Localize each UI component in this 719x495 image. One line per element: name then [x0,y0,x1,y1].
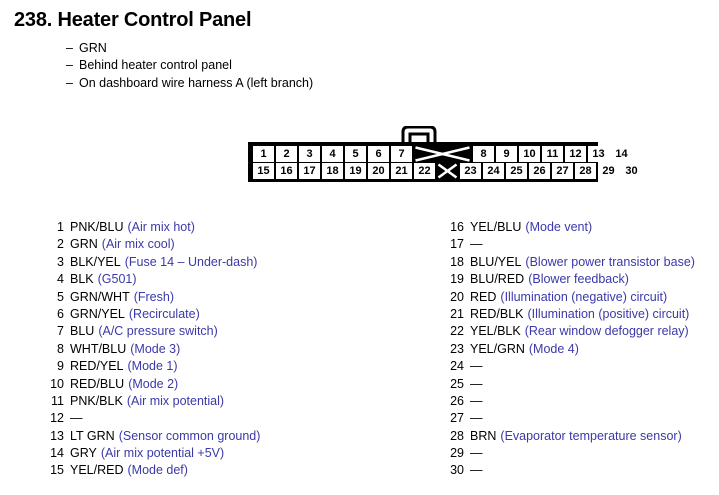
pin-legend-row: 7BLU(A/C pressure switch) [47,324,260,341]
pin-legend-row: 30— [447,463,695,480]
header-note-item: –On dashboard wire harness A (left branc… [66,75,486,92]
pin-legend-row: 23YEL/GRN(Mode 4) [447,342,695,359]
pin-legend-number: 19 [447,272,464,286]
connector-pin-23[interactable]: 23 [460,163,481,179]
connector-pin-27[interactable]: 27 [552,163,573,179]
connector-pin-19[interactable]: 19 [345,163,366,179]
pin-legend-description: (Air mix hot) [128,220,195,234]
connector-pin-16[interactable]: 16 [276,163,297,179]
pin-legend-row: 26— [447,394,695,411]
pin-legend-number: 27 [447,411,464,425]
pin-legend-row: 25— [447,377,695,394]
connector-pin-17[interactable]: 17 [299,163,320,179]
pin-legend-wire-code: BRN [470,429,496,443]
pin-legend-wire-code: RED [470,290,496,304]
pin-legend-description: (Mode 4) [529,342,579,356]
header-note-item: –Behind heater control panel [66,57,486,74]
connector-pin-28[interactable]: 28 [575,163,596,179]
pin-legend-row: 24— [447,359,695,376]
pin-legend-description: (A/C pressure switch) [98,324,217,338]
pin-legend-number: 17 [447,237,464,251]
connector-pin-9[interactable]: 9 [496,146,517,162]
pin-legend-row: 4BLK(G501) [47,272,260,289]
pin-legend-row: 16YEL/BLU(Mode vent) [447,220,695,237]
pin-legend-number: 25 [447,377,464,391]
pin-legend-number: 11 [47,394,64,408]
pin-legend-number: 21 [447,307,464,321]
pin-legend-row: 15YEL/RED(Mode def) [47,463,260,480]
pin-legend-number: 2 [47,237,64,251]
pin-legend-wire-code: — [470,411,483,425]
pin-legend-description: (Air mix potential +5V) [101,446,224,460]
connector-pin-7[interactable]: 7 [391,146,412,162]
connector-latch-icon [400,126,438,143]
connector-pin-5[interactable]: 5 [345,146,366,162]
connector-pin-3[interactable]: 3 [299,146,320,162]
pin-legend-wire-code: BLU/RED [470,272,524,286]
connector-pin-29[interactable]: 29 [598,163,619,179]
pin-legend-wire-code: — [470,359,483,373]
pin-legend-description: (Mode 1) [128,359,178,373]
pin-legend-description: (Rear window defogger relay) [525,324,689,338]
pin-legend-number: 7 [47,324,64,338]
pin-legend-wire-code: — [70,411,83,425]
pin-legend-row: 3BLK/YEL(Fuse 14 – Under-dash) [47,255,260,272]
pin-legend-wire-code: BLU/YEL [470,255,521,269]
page-title: 238. Heater Control Panel [14,9,251,32]
connector-pin-10[interactable]: 10 [519,146,540,162]
connector-pin-13[interactable]: 13 [588,146,609,162]
pin-legend-wire-code: WHT/BLU [70,342,126,356]
pin-legend-row: 13LT GRN(Sensor common ground) [47,429,260,446]
pin-legend-row: 11PNK/BLK(Air mix potential) [47,394,260,411]
pin-legend-number: 4 [47,272,64,286]
pin-legend-wire-code: — [470,463,483,477]
pin-legend-description: (G501) [98,272,137,286]
connector-body: 1234567891011121314 15161718192021222324… [248,142,598,182]
pin-legend-description: (Mode 3) [130,342,180,356]
pin-legend-number: 30 [447,463,464,477]
pin-legend-row: 10RED/BLU(Mode 2) [47,377,260,394]
pin-legend-wire-code: RED/BLK [470,307,524,321]
pin-legend-row: 19BLU/RED(Blower feedback) [447,272,695,289]
pin-legend-wire-code: LT GRN [70,429,115,443]
pin-legend-wire-code: YEL/BLU [470,220,521,234]
connector-blank-cavity-x-icon [414,146,471,162]
connector-pin-30[interactable]: 30 [621,163,642,179]
pin-legend-description: (Fuse 14 – Under-dash) [125,255,258,269]
pin-legend-number: 14 [47,446,64,460]
pin-legend-description: (Air mix cool) [102,237,175,251]
pin-legend-wire-code: BLU [70,324,94,338]
pin-legend-wire-code: GRN/YEL [70,307,125,321]
pin-legend-number: 23 [447,342,464,356]
pin-legend-row: 28BRN(Evaporator temperature sensor) [447,429,695,446]
pin-legend-number: 16 [447,220,464,234]
pin-legend-wire-code: YEL/BLK [470,324,521,338]
pin-legend-number: 1 [47,220,64,234]
pin-legend-row: 22YEL/BLK(Rear window defogger relay) [447,324,695,341]
pin-legend-number: 20 [447,290,464,304]
note-text: Behind heater control panel [79,58,232,72]
pin-legend-number: 22 [447,324,464,338]
pin-legend-row: 20RED(Illumination (negative) circuit) [447,290,695,307]
note-text: GRN [79,41,107,55]
pin-legend-row: 27— [447,411,695,428]
pin-legend-description: (Evaporator temperature sensor) [500,429,681,443]
connector-pin-15[interactable]: 15 [253,163,274,179]
pin-legend-right-column: 16YEL/BLU(Mode vent)17—18BLU/YEL(Blower … [447,220,695,481]
connector-pin-22[interactable]: 22 [414,163,435,179]
pin-legend-description: (Fresh) [134,290,174,304]
pin-legend-wire-code: GRY [70,446,97,460]
pin-legend-number: 15 [47,463,64,477]
pin-legend-wire-code: YEL/GRN [470,342,525,356]
pin-legend-description: (Sensor common ground) [119,429,261,443]
pin-legend-number: 12 [47,411,64,425]
pin-legend-wire-code: GRN [70,237,98,251]
connector-pin-24[interactable]: 24 [483,163,504,179]
pin-legend-wire-code: RED/YEL [70,359,124,373]
pin-legend-number: 13 [47,429,64,443]
connector-pin-18[interactable]: 18 [322,163,343,179]
pin-legend-row: 2GRN(Air mix cool) [47,237,260,254]
pin-legend-row: 18BLU/YEL(Blower power transistor base) [447,255,695,272]
pin-legend-row: 9RED/YEL(Mode 1) [47,359,260,376]
pin-legend-row: 5GRN/WHT(Fresh) [47,290,260,307]
pin-legend-wire-code: — [470,377,483,391]
pin-legend-row: 17— [447,237,695,254]
connector-pin-6[interactable]: 6 [368,146,389,162]
connector-pin-14[interactable]: 14 [611,146,632,162]
header-notes-list: –GRN–Behind heater control panel–On dash… [66,40,486,92]
connector-pin-12[interactable]: 12 [565,146,586,162]
pin-legend-description: (Blower feedback) [528,272,629,286]
pin-legend-wire-code: BLK/YEL [70,255,121,269]
pin-legend-row: 6GRN/YEL(Recirculate) [47,307,260,324]
pin-legend-wire-code: — [470,446,483,460]
connector-pin-26[interactable]: 26 [529,163,550,179]
pin-legend-left-column: 1PNK/BLU(Air mix hot)2GRN(Air mix cool)3… [47,220,260,481]
connector-row-bottom: 15161718192021222324252627282930 [251,162,595,179]
pin-legend-wire-code: PNK/BLK [70,394,123,408]
connector-pin-25[interactable]: 25 [506,163,527,179]
pin-legend-number: 26 [447,394,464,408]
connector-pinout-diagram: 1234567891011121314 15161718192021222324… [248,126,598,184]
note-text: On dashboard wire harness A (left branch… [79,76,313,90]
pin-legend-wire-code: RED/BLU [70,377,124,391]
pin-legend-row: 29— [447,446,695,463]
header-note-item: –GRN [66,40,486,57]
pin-legend-number: 3 [47,255,64,269]
pin-legend-row: 8WHT/BLU(Mode 3) [47,342,260,359]
pin-legend-row: 12— [47,411,260,428]
pin-legend-wire-code: YEL/RED [70,463,124,477]
pin-legend-number: 5 [47,290,64,304]
pin-legend-number: 9 [47,359,64,373]
pin-legend-description: (Illumination (positive) circuit) [528,307,690,321]
pin-legend-number: 18 [447,255,464,269]
pin-legend-number: 29 [447,446,464,460]
connector-row-top: 1234567891011121314 [251,145,595,162]
connector-pin-11[interactable]: 11 [542,146,563,162]
pin-legend-number: 24 [447,359,464,373]
connector-blank-cavity-x-icon [437,163,458,179]
connector-pin-2[interactable]: 2 [276,146,297,162]
pin-legend-description: (Mode 2) [128,377,178,391]
pin-legend-description: (Illumination (negative) circuit) [500,290,667,304]
pin-legend-description: (Air mix potential) [127,394,224,408]
connector-pin-20[interactable]: 20 [368,163,389,179]
note-dash-marker: – [66,57,79,74]
note-dash-marker: – [66,40,79,57]
pin-legend-row: 1PNK/BLU(Air mix hot) [47,220,260,237]
pin-legend-description: (Blower power transistor base) [525,255,695,269]
pin-legend-description: (Mode vent) [525,220,592,234]
pin-legend-wire-code: — [470,394,483,408]
pin-legend-description: (Recirculate) [129,307,200,321]
pin-legend-description: (Mode def) [128,463,188,477]
pin-legend-row: 14GRY(Air mix potential +5V) [47,446,260,463]
connector-pin-8[interactable]: 8 [473,146,494,162]
connector-pin-4[interactable]: 4 [322,146,343,162]
pin-legend-row: 21RED/BLK(Illumination (positive) circui… [447,307,695,324]
connector-pin-1[interactable]: 1 [253,146,274,162]
pin-legend-number: 10 [47,377,64,391]
pin-legend-number: 8 [47,342,64,356]
pin-legend-wire-code: GRN/WHT [70,290,130,304]
pin-legend-wire-code: BLK [70,272,94,286]
pin-legend-wire-code: PNK/BLU [70,220,124,234]
pin-legend-number: 6 [47,307,64,321]
pin-legend-number: 28 [447,429,464,443]
pin-legend-wire-code: — [470,237,483,251]
connector-pin-21[interactable]: 21 [391,163,412,179]
note-dash-marker: – [66,75,79,92]
